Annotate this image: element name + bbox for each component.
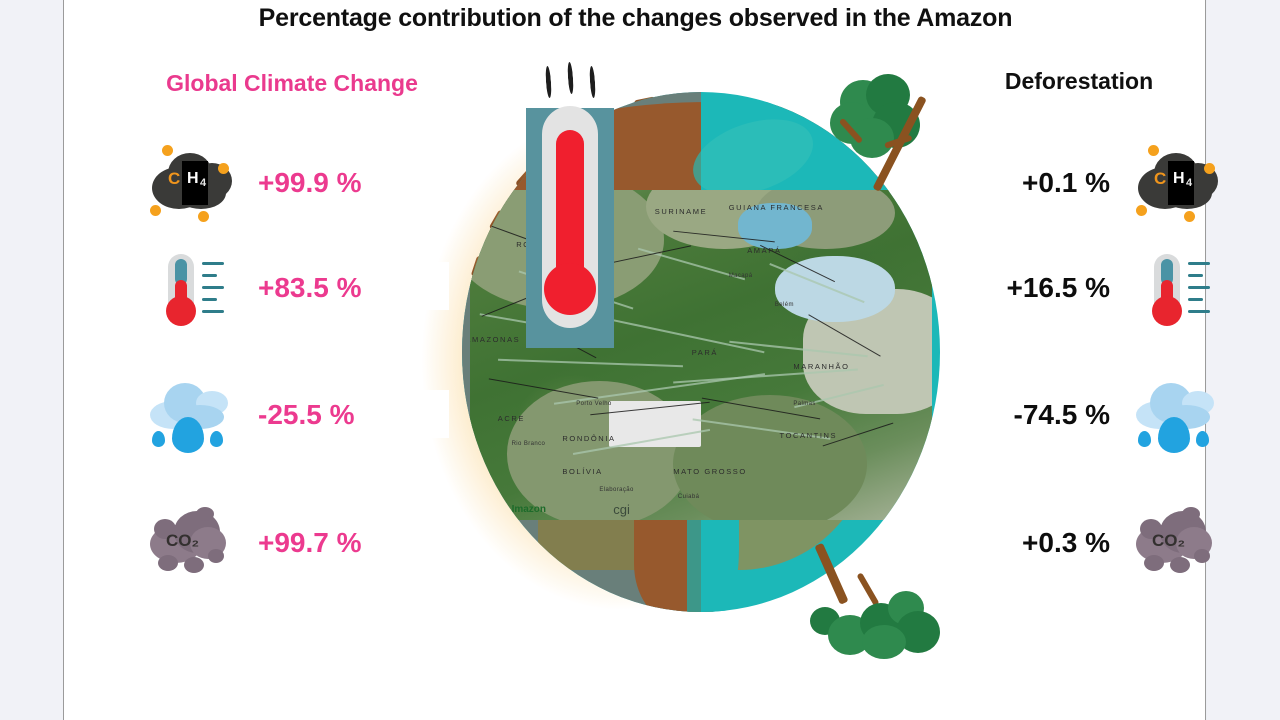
value-temperature-left: +83.5 % bbox=[258, 272, 362, 304]
value-co2-right: +0.3 % bbox=[1022, 527, 1110, 559]
map-city-label: Rio Branco bbox=[512, 441, 546, 447]
ch4-sub-label: 4 bbox=[1186, 177, 1192, 189]
rain-cloud-icon bbox=[1132, 375, 1224, 455]
heat-wave-icon bbox=[567, 62, 574, 94]
map-brand: Imazon bbox=[512, 504, 546, 515]
tree-icon-fallen bbox=[804, 545, 944, 660]
map-label: GUIANA FRANCESA bbox=[729, 203, 824, 212]
map-city-label: Macapá bbox=[729, 273, 753, 279]
map-credit: Elaboração bbox=[599, 487, 633, 493]
row-rain-left: -25.5 % bbox=[146, 372, 446, 458]
map-river bbox=[610, 319, 764, 354]
map-label: BOLÍVIA bbox=[562, 467, 602, 476]
row-temperature-left: +83.5 % bbox=[146, 245, 446, 331]
map-river bbox=[498, 358, 683, 366]
map-label: MATO GROSSO bbox=[673, 467, 747, 476]
value-ch4-right: +0.1 % bbox=[1022, 167, 1110, 199]
value-temperature-right: +16.5 % bbox=[1006, 272, 1110, 304]
ch4-c-label: C bbox=[1154, 169, 1166, 189]
co2-cloud-icon: CO₂ bbox=[1132, 503, 1224, 583]
page-title: Percentage contribution of the changes o… bbox=[64, 4, 1207, 33]
ch4-sub-label: 4 bbox=[200, 177, 206, 189]
co2-label: CO₂ bbox=[1152, 531, 1185, 551]
tree-icon-top bbox=[826, 72, 936, 192]
thermometer-icon bbox=[146, 248, 238, 328]
row-temperature-right: +16.5 % bbox=[944, 245, 1224, 331]
rain-cloud-icon bbox=[146, 375, 238, 455]
value-rain-right: -74.5 % bbox=[1014, 399, 1111, 431]
co2-label: CO₂ bbox=[166, 531, 199, 551]
row-co2-left: CO₂ +99.7 % bbox=[146, 500, 446, 586]
map-city-label: Belém bbox=[775, 302, 794, 308]
map-label: ACRE bbox=[498, 414, 525, 423]
map-label: MARANHÃO bbox=[793, 362, 849, 371]
thermometer-bulb bbox=[544, 263, 596, 315]
column-heading-deforestation: Deforestation bbox=[944, 68, 1214, 95]
methane-cloud-icon: C H 4 bbox=[1132, 143, 1224, 223]
map-blob bbox=[673, 395, 867, 520]
ch4-c-label: C bbox=[168, 169, 180, 189]
row-ch4-right: +0.1 % C H 4 bbox=[944, 140, 1224, 226]
row-ch4-left: C H 4 +99.9 % bbox=[146, 140, 446, 226]
value-ch4-left: +99.9 % bbox=[258, 167, 362, 199]
map-city-label: Porto Velho bbox=[576, 401, 611, 407]
map-label: AMAZONAS bbox=[470, 335, 520, 344]
map-label: PARÁ bbox=[692, 348, 718, 357]
map-city-label: Cuiabá bbox=[678, 494, 699, 500]
co2-cloud-icon: CO₂ bbox=[146, 503, 238, 583]
map-label: TOCANTINS bbox=[780, 431, 838, 440]
map-city-label: Palmas bbox=[793, 401, 815, 407]
value-rain-left: -25.5 % bbox=[258, 399, 355, 431]
row-co2-right: +0.3 % CO₂ bbox=[944, 500, 1224, 586]
column-heading-climate: Global Climate Change bbox=[142, 70, 442, 97]
map-brand-secondary: cgi bbox=[613, 502, 630, 517]
map-label: AMAPÁ bbox=[747, 246, 781, 255]
map-label: SURINAME bbox=[655, 207, 707, 216]
row-rain-right: -74.5 % bbox=[944, 372, 1224, 458]
ch4-h-label: H bbox=[1173, 170, 1185, 188]
page-margin-right bbox=[1207, 0, 1280, 720]
page-margin-left bbox=[0, 0, 63, 720]
slide-canvas: Percentage contribution of the changes o… bbox=[63, 0, 1206, 720]
methane-cloud-icon: C H 4 bbox=[146, 143, 238, 223]
map-label: RONDÔNIA bbox=[562, 434, 615, 443]
thermometer-icon bbox=[1132, 248, 1224, 328]
large-thermometer-icon bbox=[526, 108, 614, 348]
value-co2-left: +99.7 % bbox=[258, 527, 362, 559]
ch4-h-label: H bbox=[187, 170, 199, 188]
